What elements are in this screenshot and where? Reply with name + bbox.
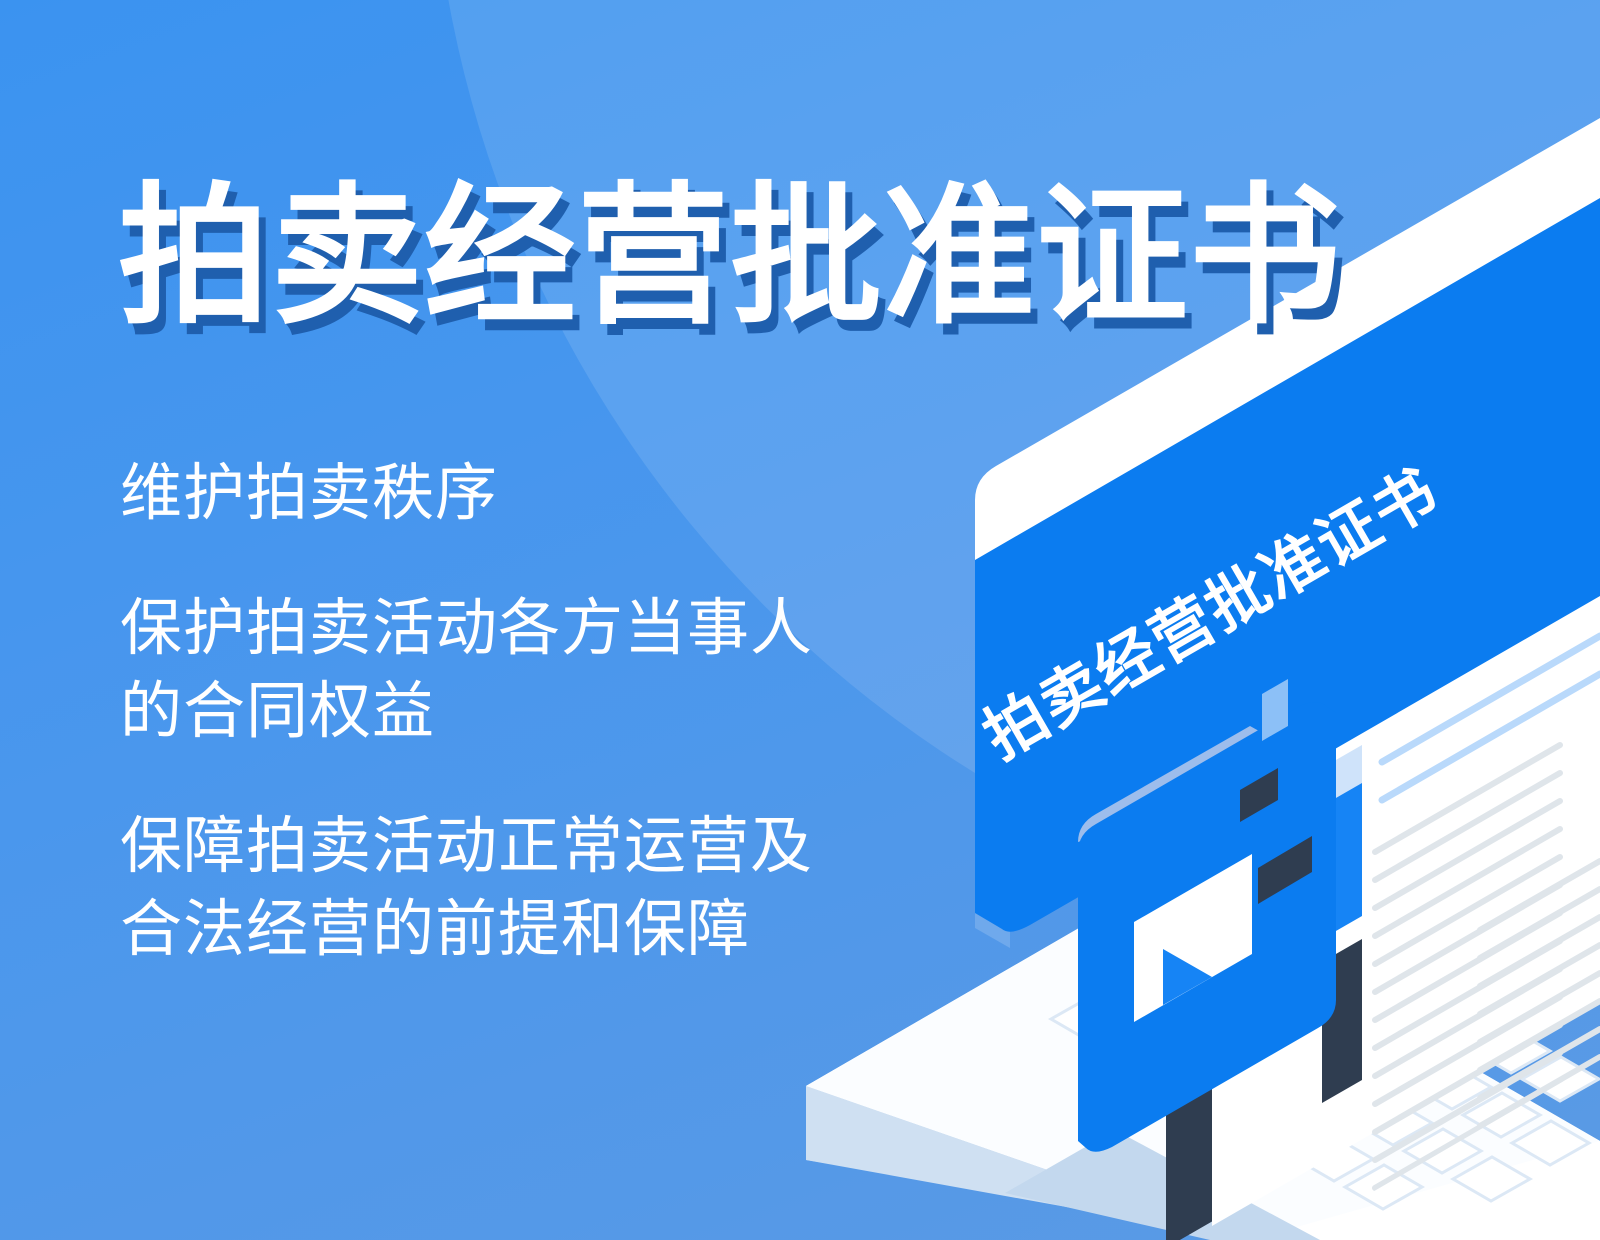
promo-banner: 拍卖经营批准证书 拍卖经营批准证书 维护拍卖秩序 保护拍卖活动各方当事人 的合同…: [0, 0, 1600, 1240]
feature-bullet-list: 维护拍卖秩序 保护拍卖活动各方当事人 的合同权益 保障拍卖活动正常运营及 合法经…: [120, 452, 940, 971]
bullet-item-1: 维护拍卖秩序: [120, 452, 940, 535]
bullet-item-3: 保障拍卖活动正常运营及 合法经营的前提和保障: [120, 805, 940, 971]
bullet-item-2: 保护拍卖活动各方当事人 的合同权益: [120, 587, 940, 753]
page-title: 拍卖经营批准证书: [118, 178, 1342, 336]
